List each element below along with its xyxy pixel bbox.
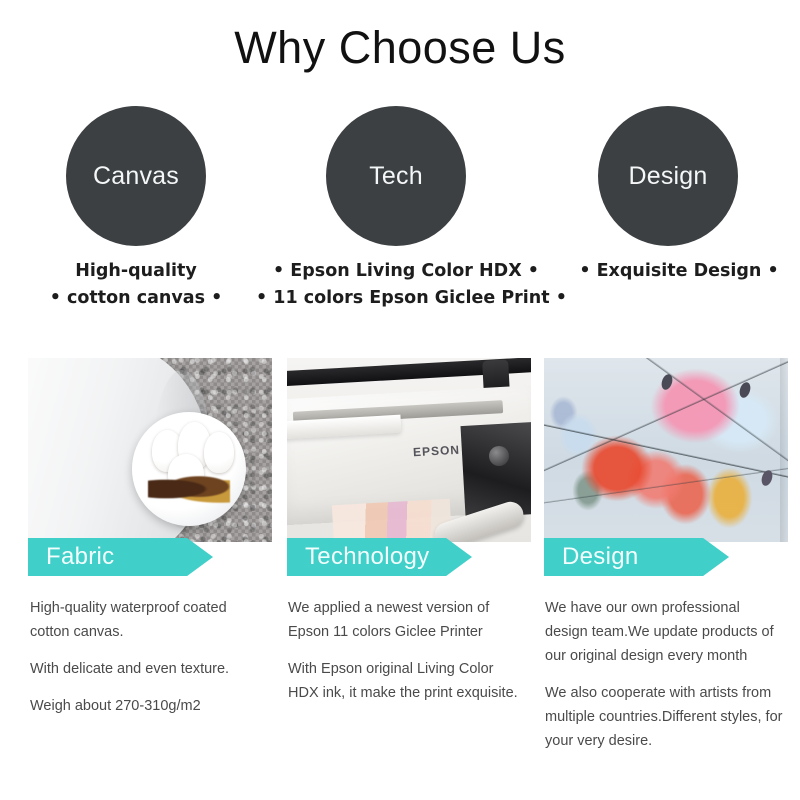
badge-circle-canvas: Canvas: [66, 106, 206, 246]
description-paragraph: We also cooperate with artists from mult…: [545, 681, 785, 753]
fabric-photo-art: [28, 358, 272, 542]
description-paragraph: We have our own professional design team…: [545, 596, 785, 668]
caption-line-1: High-quality: [18, 258, 254, 285]
page-title: Why Choose Us: [0, 22, 800, 74]
description-paragraph: With Epson original Living Color HDX ink…: [288, 657, 520, 705]
badge-label: Canvas: [93, 162, 179, 191]
caption-tech: • Epson Living Color HDX • • 11 colors E…: [256, 258, 556, 312]
caption-canvas: High-quality • cotton canvas •: [18, 258, 254, 312]
badge-circle-design: Design: [598, 106, 738, 246]
description-paragraph: We applied a newest version of Epson 11 …: [288, 596, 520, 644]
cotton-husk: [148, 474, 230, 504]
why-choose-us-infographic: Why Choose Us Canvas Tech Design High-qu…: [0, 0, 800, 800]
printer-photo-art: EPSON: [287, 358, 531, 542]
epson-logo: EPSON: [413, 443, 461, 460]
banner-technology: Technology: [287, 538, 472, 576]
description-paragraph: With delicate and even texture.: [30, 657, 262, 681]
banner-label: Design: [544, 543, 639, 571]
printer-side-panel: [460, 422, 531, 518]
cotton-boll: [204, 432, 234, 473]
badge-circle-tech: Tech: [326, 106, 466, 246]
photo-artwork: [544, 358, 788, 542]
banner-design: Design: [544, 538, 729, 576]
floral-painting-art: [544, 358, 788, 542]
description-design: We have our own professional design team…: [545, 596, 785, 766]
banner-label: Technology: [287, 543, 429, 571]
caption-row: High-quality • cotton canvas • • Epson L…: [0, 258, 800, 336]
caption-line-1: • Exquisite Design •: [558, 258, 800, 285]
description-technology: We applied a newest version of Epson 11 …: [288, 596, 520, 718]
badge-label: Tech: [369, 162, 423, 191]
caption-line-1: • Epson Living Color HDX •: [256, 258, 556, 285]
photo-fabric: [28, 358, 272, 542]
badge-row: Canvas Tech Design: [0, 106, 800, 248]
banner-label: Fabric: [28, 543, 114, 571]
description-paragraph: High-quality waterproof coated cotton ca…: [30, 596, 262, 644]
badge-label: Design: [628, 162, 707, 191]
caption-design: • Exquisite Design •: [558, 258, 800, 285]
caption-line-2: • 11 colors Epson Giclee Print •: [256, 285, 556, 312]
photo-row: EPSON: [0, 358, 800, 558]
printer-knob: [489, 446, 509, 466]
caption-line-2: • cotton canvas •: [18, 285, 254, 312]
banner-fabric: Fabric: [28, 538, 213, 576]
description-fabric: High-quality waterproof coated cotton ca…: [30, 596, 262, 731]
description-paragraph: Weigh about 270-310g/m2: [30, 694, 262, 718]
photo-printer: EPSON: [287, 358, 531, 542]
canvas-edge: [780, 358, 788, 542]
